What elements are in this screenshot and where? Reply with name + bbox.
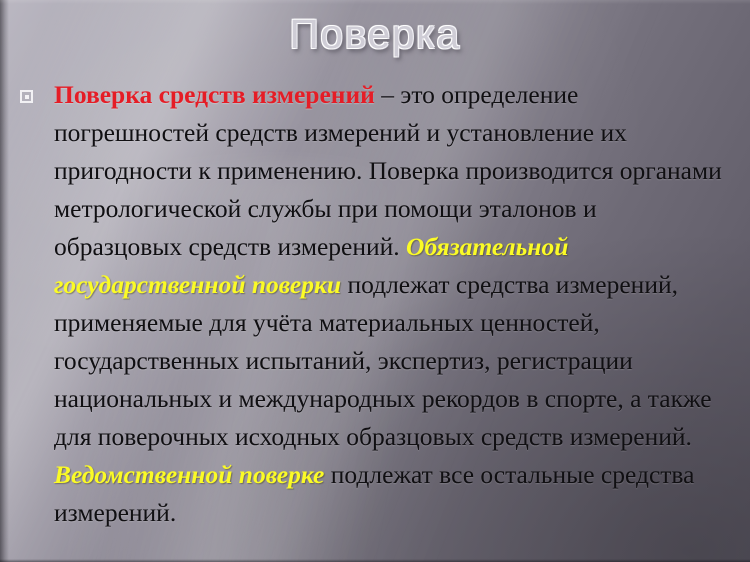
slide-body: Поверка средств измерений – это определе… [20, 76, 728, 532]
square-bullet-icon [20, 90, 33, 103]
slide-title: Поверка [289, 11, 460, 58]
presentation-slide: Поверка Поверка средств измерений – это … [0, 0, 750, 562]
bullet-marker-cell [20, 76, 54, 103]
body-paragraph: Поверка средств измерений – это определе… [54, 76, 728, 532]
highlighted-term-yellow-4: Ведомственной поверке [54, 460, 324, 489]
slide-title-container: Поверка [0, 4, 750, 64]
highlighted-term-red-0: Поверка средств измерений [54, 80, 375, 109]
